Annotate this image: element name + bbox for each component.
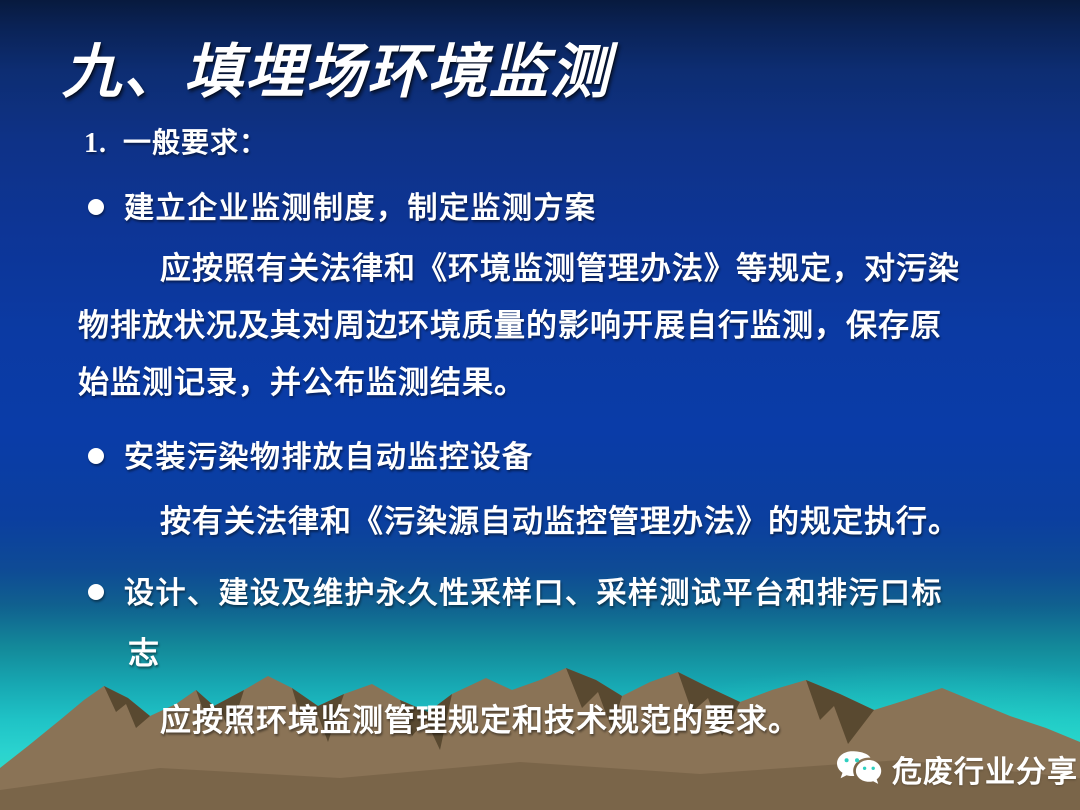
bullet-item-2: 安装污染物排放自动监控设备 <box>88 432 534 476</box>
section-number-label: 一般要求： <box>123 128 268 159</box>
bullet-1-body-line-3: 始监测记录，并公布监测结果。 <box>78 357 526 402</box>
bullet-dot-icon <box>88 199 104 215</box>
bullet-item-3: 设计、建设及维护永久性采样口、采样测试平台和排污口标 <box>88 568 943 612</box>
bullet-3-heading: 设计、建设及维护永久性采样口、采样测试平台和排污口标 <box>124 577 943 610</box>
bullet-1-heading: 建立企业监测制度，制定监测方案 <box>124 192 597 225</box>
bullet-item-1: 建立企业监测制度，制定监测方案 <box>88 183 597 227</box>
bullet-2-body-line-1: 按有关法律和《污染源自动监控管理办法》的规定执行。 <box>160 496 960 541</box>
bullet-2-heading: 安装污染物排放自动监控设备 <box>124 441 534 474</box>
wechat-icon <box>836 749 882 789</box>
watermark: 危废行业分享 <box>836 747 1078 791</box>
bullet-dot-icon <box>88 448 104 464</box>
section-number: 1. <box>84 128 107 159</box>
section-number-item: 1.一般要求： <box>84 121 268 161</box>
slide-canvas: 九、填埋场环境监测 1.一般要求： 建立企业监测制度，制定监测方案 应按照有关法… <box>0 0 1080 810</box>
bullet-3-heading-continuation: 志 <box>128 628 160 673</box>
bullet-3-body-line-1: 应按照环境监测管理规定和技术规范的要求。 <box>160 695 800 740</box>
bullet-1-body-line-2: 物排放状况及其对周边环境质量的影响开展自行监测，保存原 <box>78 300 942 345</box>
bullet-dot-icon <box>88 584 104 600</box>
watermark-text: 危废行业分享 <box>892 747 1078 791</box>
page-title: 九、填埋场环境监测 <box>62 40 611 105</box>
bullet-1-body-line-1: 应按照有关法律和《环境监测管理办法》等规定，对污染 <box>160 243 960 288</box>
